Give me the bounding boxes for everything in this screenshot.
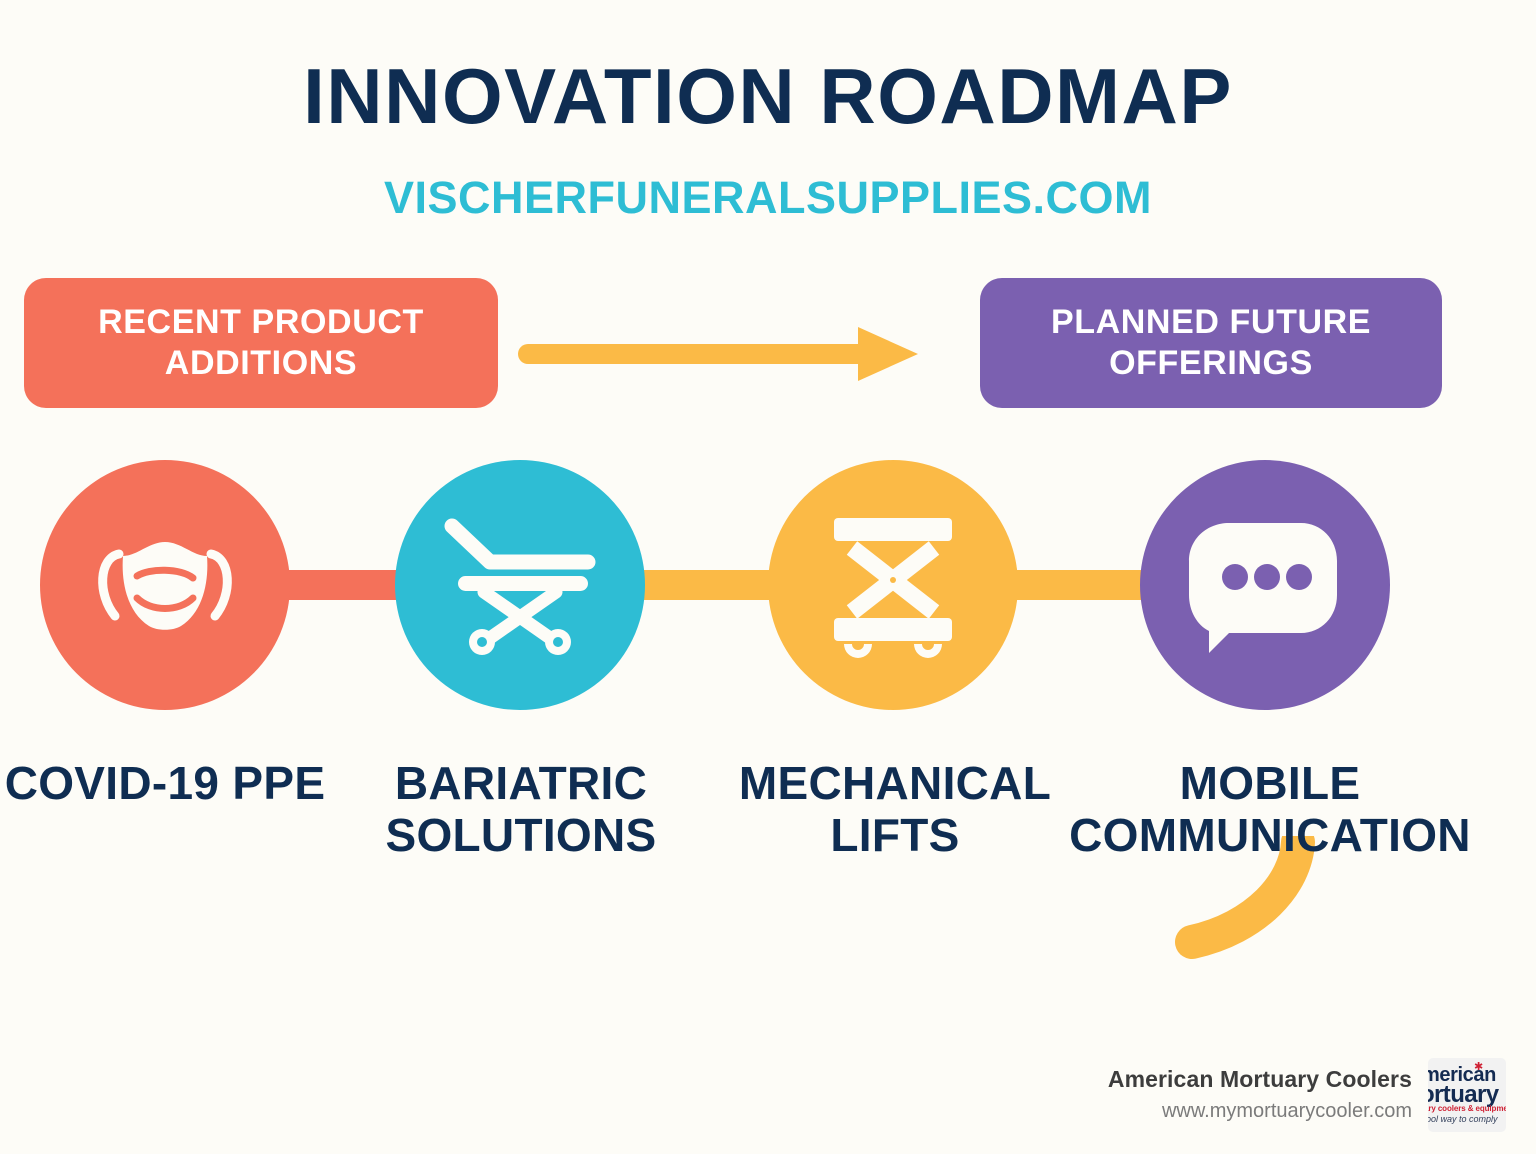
roadmap-node-mechanical-lifts[interactable] [768,460,1018,710]
roadmap-node-mobile-communication[interactable] [1140,460,1390,710]
logo-line-3: ary coolers & equipment [1428,1104,1506,1113]
footer: American Mortuary Coolers www.mymortuary… [1108,1058,1506,1132]
right-arrow-icon [518,325,918,383]
roadmap-node-covid-19-ppe[interactable] [40,460,290,710]
company-logo: ✱ merican ortuary ary coolers & equipmen… [1428,1058,1506,1132]
phase-banner-recent-product-additions: RECENT PRODUCT ADDITIONS [24,278,498,408]
chat-bubble-icon [1185,513,1345,658]
infographic-canvas: INNOVATION ROADMAP VISCHERFUNERALSUPPLIE… [0,0,1536,1154]
footer-brand-name: American Mortuary Coolers [1108,1065,1412,1095]
page-subtitle: VISCHERFUNERALSUPPLIES.COM [0,172,1536,224]
node-label-covid-19-ppe: COVID-19 PPE [0,758,335,810]
roadmap-node-bariatric-solutions[interactable] [395,460,645,710]
phase-banner-planned-future-offerings: PLANNED FUTURE OFFERINGS [980,278,1442,408]
logo-line-4: ool way to comply [1428,1114,1498,1124]
node-label-mechanical-lifts: MECHANICAL LIFTS [700,758,1090,861]
stretcher-cot-icon [438,510,603,660]
footer-website-url[interactable]: www.mymortuarycooler.com [1108,1098,1412,1125]
node-label-bariatric-solutions: BARIATRIC SOLUTIONS [330,758,712,861]
scissor-lift-icon [816,508,971,663]
face-mask-icon [85,520,245,650]
footer-text-block: American Mortuary Coolers www.mymortuary… [1108,1065,1412,1125]
node-label-mobile-communication: MOBILE COMMUNICATION [1060,758,1480,861]
page-title: INNOVATION ROADMAP [0,56,1536,138]
